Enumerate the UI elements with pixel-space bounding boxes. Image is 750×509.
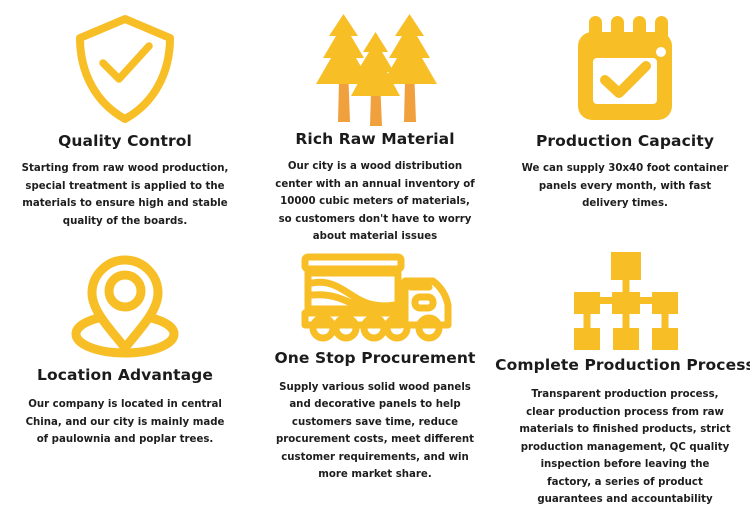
delivery-truck-icon bbox=[298, 250, 453, 345]
pine-trees-icon bbox=[310, 10, 440, 126]
feature-card-location-advantage: Location Advantage Our company is locate… bbox=[0, 242, 250, 484]
feature-title: One Stop Procurement bbox=[275, 349, 476, 367]
feature-body: Our company is located in central China,… bbox=[19, 396, 231, 449]
calendar-check-icon bbox=[569, 10, 681, 128]
feature-card-rich-raw-material: Rich Raw Material Our city is a wood dis… bbox=[250, 0, 500, 242]
feature-card-one-stop-procurement: One Stop Procurement Supply various soli… bbox=[250, 242, 500, 484]
feature-body: We can supply 30x40 foot container panel… bbox=[517, 160, 733, 213]
shield-check-icon bbox=[72, 10, 178, 128]
features-grid: Quality Control Starting from raw wood p… bbox=[0, 0, 750, 484]
feature-body: Starting from raw wood production, speci… bbox=[19, 160, 231, 230]
feature-body: Transparent production process, clear pr… bbox=[517, 386, 733, 509]
feature-body: Supply various solid wood panels and dec… bbox=[272, 379, 478, 484]
feature-title: Production Capacity bbox=[536, 132, 714, 150]
feature-card-production-capacity: Production Capacity We can supply 30x40 … bbox=[500, 0, 750, 242]
feature-title: Quality Control bbox=[58, 132, 192, 150]
feature-title: Rich Raw Material bbox=[295, 130, 454, 148]
feature-title: Complete Production Process bbox=[495, 356, 750, 374]
feature-title: Location Advantage bbox=[37, 366, 213, 384]
feature-card-quality-control: Quality Control Starting from raw wood p… bbox=[0, 0, 250, 242]
org-chart-icon bbox=[554, 250, 696, 352]
location-pin-icon bbox=[65, 250, 185, 362]
feature-card-complete-production-process: Complete Production Process Transparent … bbox=[500, 242, 750, 484]
feature-body: Our city is a wood distribution center w… bbox=[272, 158, 478, 246]
